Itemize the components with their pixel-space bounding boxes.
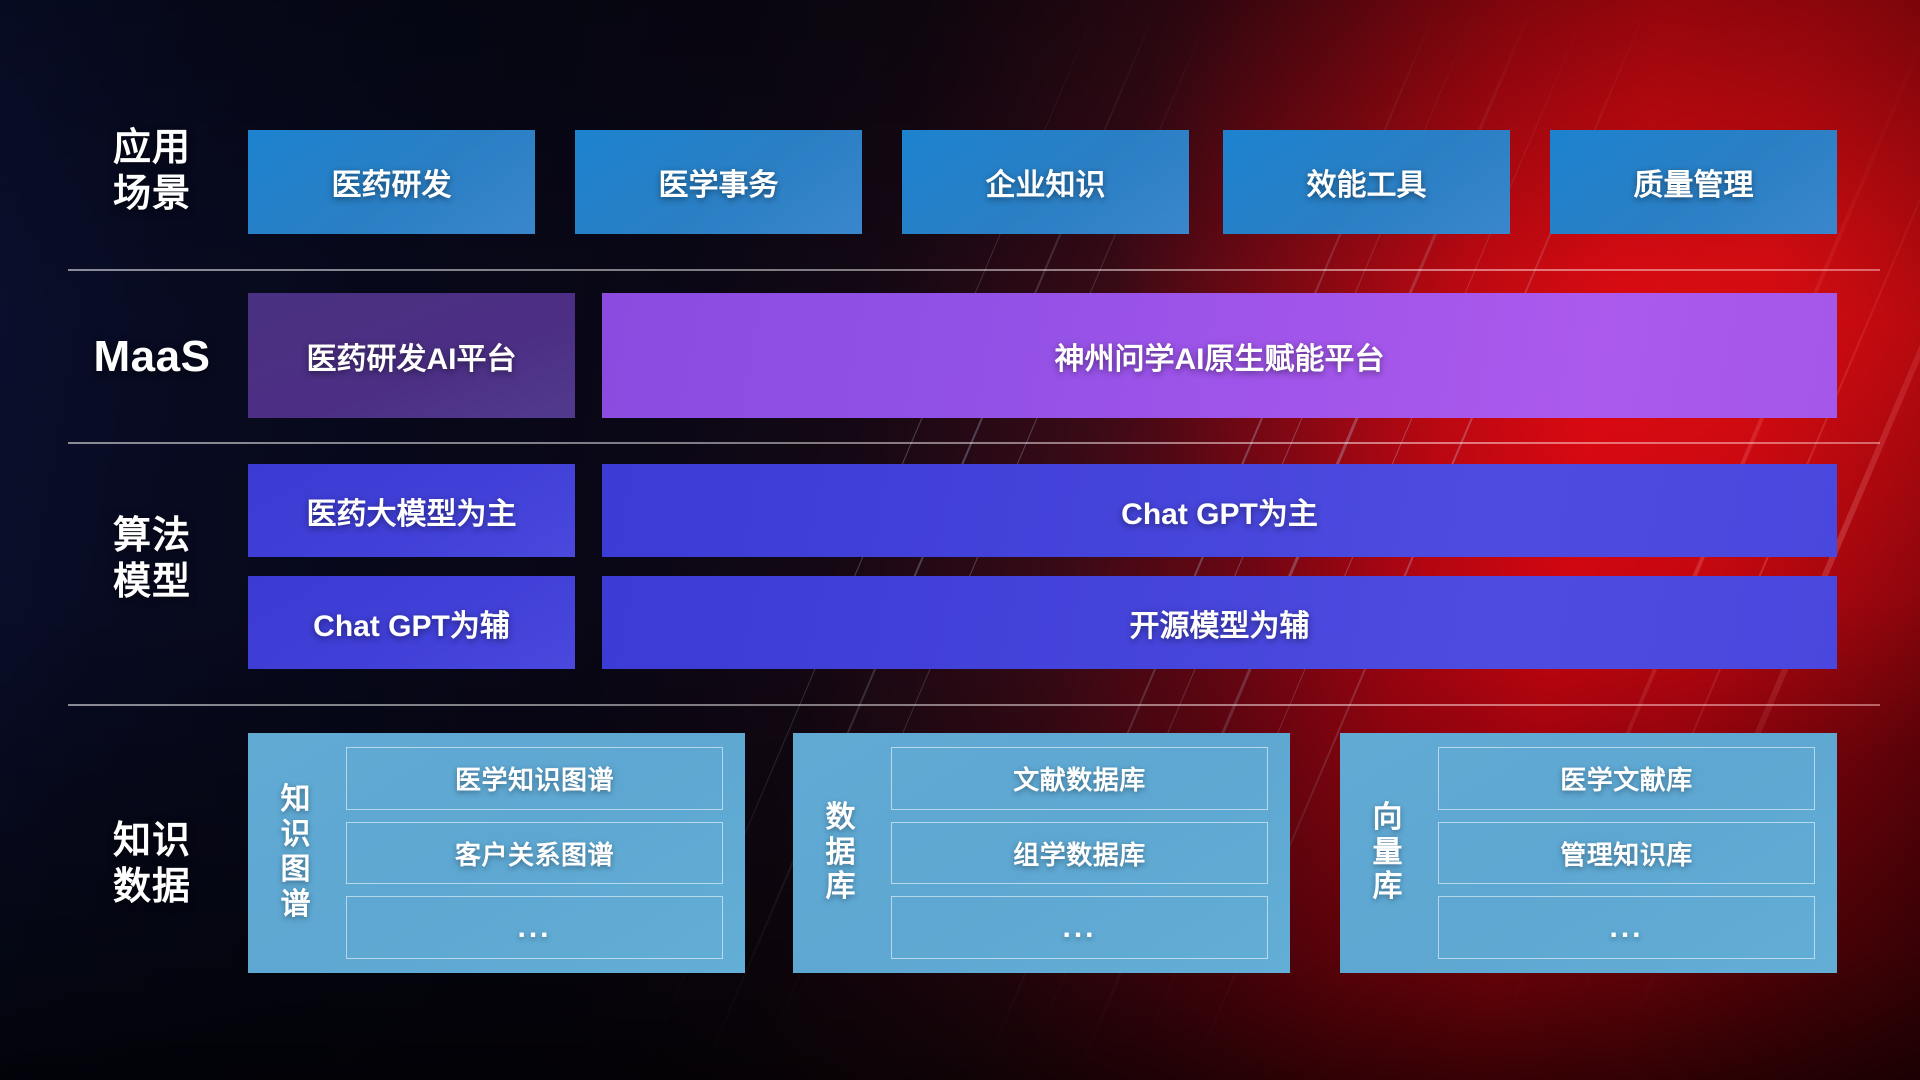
maas-platform-label: 医药研发AI平台	[307, 334, 517, 378]
row-label-line: MaaS	[68, 330, 236, 384]
row-label-knowledge-data: 知识 数据	[68, 818, 236, 911]
app-scenario-box-5[interactable]: 质量管理	[1550, 130, 1837, 234]
title-char: 谱	[281, 888, 312, 923]
knowledge-item-list: 文献数据库 组学数据库 ...	[877, 747, 1274, 959]
title-char: 向	[1373, 801, 1404, 836]
row-label-application-scenarios: 应用 场景	[68, 125, 236, 218]
app-scenario-label: 企业知识	[986, 160, 1106, 204]
row-label-line: 算法	[68, 513, 236, 559]
app-scenario-box-2[interactable]: 医学事务	[575, 130, 862, 234]
knowledge-item-more[interactable]: ...	[891, 896, 1268, 959]
title-char: 库	[826, 870, 857, 905]
knowledge-panel-database[interactable]: 数 据 库 文献数据库 组学数据库 ...	[793, 733, 1290, 973]
knowledge-item-label: ...	[1609, 911, 1643, 945]
knowledge-item[interactable]: 管理知识库	[1438, 822, 1815, 885]
row-label-line: 数据	[68, 864, 236, 910]
algorithm-label: Chat GPT为主	[1121, 489, 1318, 533]
knowledge-item-label: 医学文献库	[1560, 760, 1693, 797]
maas-platform-label: 神州问学AI原生赋能平台	[1055, 334, 1385, 378]
title-char: 知	[281, 783, 312, 818]
algorithm-box-secondary-chatgpt[interactable]: Chat GPT为辅	[248, 576, 575, 669]
knowledge-item[interactable]: 医学文献库	[1438, 747, 1815, 810]
title-char: 识	[281, 818, 312, 853]
knowledge-item-more[interactable]: ...	[1438, 896, 1815, 959]
knowledge-panel-title: 向 量 库	[1352, 747, 1424, 959]
row-label-line: 模型	[68, 559, 236, 605]
app-scenario-label: 效能工具	[1307, 160, 1427, 204]
knowledge-item[interactable]: 文献数据库	[891, 747, 1268, 810]
knowledge-item-label: 文献数据库	[1013, 760, 1146, 797]
title-char: 数	[826, 801, 857, 836]
app-scenario-label: 质量管理	[1634, 160, 1754, 204]
algorithm-box-secondary-opensource[interactable]: 开源模型为辅	[602, 576, 1837, 669]
knowledge-item-label: 客户关系图谱	[455, 835, 614, 872]
app-scenario-box-4[interactable]: 效能工具	[1223, 130, 1510, 234]
knowledge-item-label: 医学知识图谱	[455, 760, 614, 797]
title-char: 量	[1373, 836, 1404, 871]
algorithm-label: Chat GPT为辅	[313, 601, 510, 645]
knowledge-panel-title: 数 据 库	[805, 747, 877, 959]
title-char: 图	[281, 853, 312, 888]
algorithm-box-primary-chatgpt[interactable]: Chat GPT为主	[602, 464, 1837, 557]
knowledge-panel-knowledge-graph[interactable]: 知 识 图 谱 医学知识图谱 客户关系图谱 ...	[248, 733, 745, 973]
row-label-line: 应用	[68, 125, 236, 171]
section-divider-3	[68, 704, 1880, 706]
title-char: 据	[826, 836, 857, 871]
knowledge-item-label: ...	[1062, 911, 1096, 945]
knowledge-item[interactable]: 医学知识图谱	[346, 747, 723, 810]
knowledge-item-more[interactable]: ...	[346, 896, 723, 959]
knowledge-item[interactable]: 客户关系图谱	[346, 822, 723, 885]
row-label-maas: MaaS	[68, 330, 236, 384]
app-scenario-box-1[interactable]: 医药研发	[248, 130, 535, 234]
title-char: 库	[1373, 870, 1404, 905]
row-label-line: 场景	[68, 171, 236, 217]
app-scenario-label: 医学事务	[659, 160, 779, 204]
knowledge-item-list: 医学知识图谱 客户关系图谱 ...	[332, 747, 729, 959]
knowledge-item-label: 组学数据库	[1013, 835, 1146, 872]
row-label-line: 知识	[68, 818, 236, 864]
architecture-diagram-canvas: 应用 场景 医药研发 医学事务 企业知识 效能工具 质量管理 MaaS 医药研发…	[0, 0, 1920, 1080]
section-divider-1	[68, 269, 1880, 271]
knowledge-item-label: ...	[517, 911, 551, 945]
maas-platform-box-shenzhou[interactable]: 神州问学AI原生赋能平台	[602, 293, 1837, 418]
algorithm-label: 医药大模型为主	[307, 489, 517, 533]
knowledge-item[interactable]: 组学数据库	[891, 822, 1268, 885]
row-label-algorithm-model: 算法 模型	[68, 513, 236, 606]
algorithm-box-primary-medical[interactable]: 医药大模型为主	[248, 464, 575, 557]
section-divider-2	[68, 442, 1880, 444]
app-scenario-box-3[interactable]: 企业知识	[902, 130, 1189, 234]
knowledge-item-list: 医学文献库 管理知识库 ...	[1424, 747, 1821, 959]
knowledge-item-label: 管理知识库	[1560, 835, 1693, 872]
maas-platform-box-medical[interactable]: 医药研发AI平台	[248, 293, 575, 418]
knowledge-panel-vector-database[interactable]: 向 量 库 医学文献库 管理知识库 ...	[1340, 733, 1837, 973]
knowledge-panel-title: 知 识 图 谱	[260, 747, 332, 959]
app-scenario-label: 医药研发	[332, 160, 452, 204]
algorithm-label: 开源模型为辅	[1130, 601, 1310, 645]
